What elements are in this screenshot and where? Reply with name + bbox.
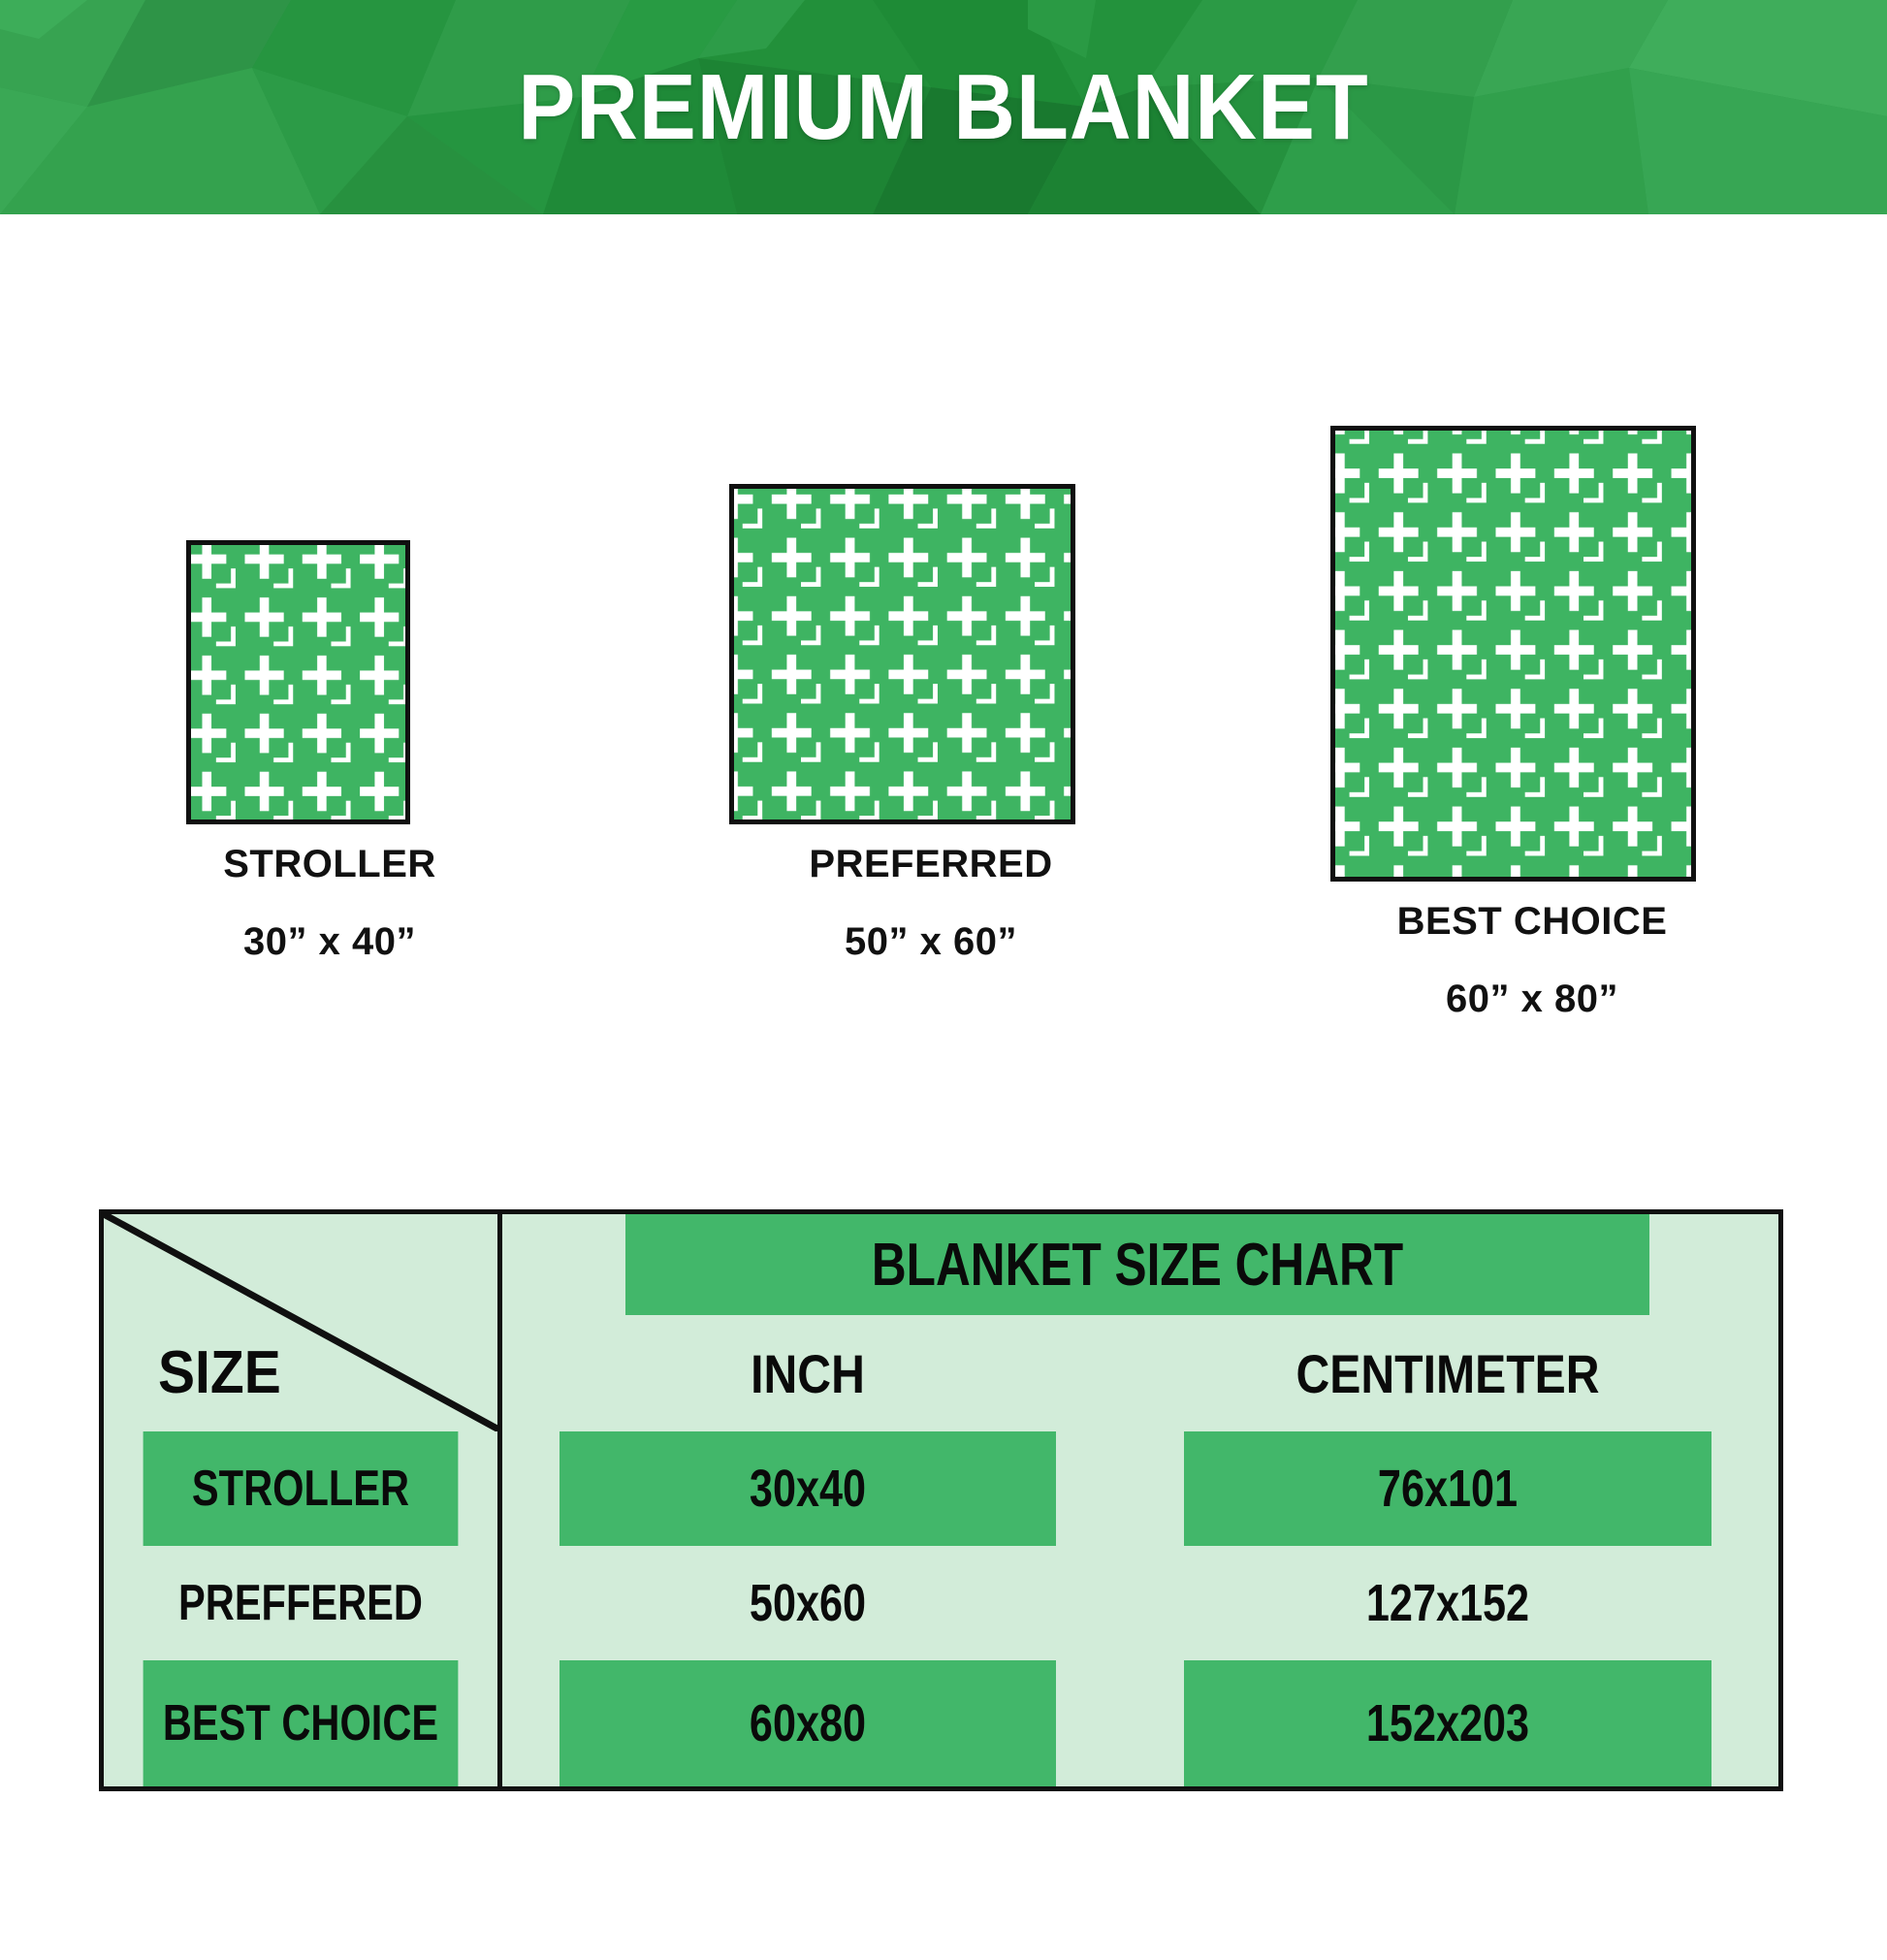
swatch-dims-preferred: 50” x 60” xyxy=(708,922,1154,961)
swatch-name-stroller: STROLLER xyxy=(107,845,553,884)
swatch-caption-bestchoice: BEST CHOICE 60” x 80” xyxy=(1309,902,1755,1018)
blanket-size-chart-table: BLANKET SIZE CHART INCH CENTIMETER STROL… xyxy=(99,1209,1783,1791)
plus-cross-pattern-icon xyxy=(191,545,405,819)
swatch-dims-bestchoice: 60” x 80” xyxy=(1309,980,1755,1018)
table-title: BLANKET SIZE CHART xyxy=(625,1214,1649,1315)
table-row: BEST CHOICE 60x80 152x203 xyxy=(104,1660,1778,1786)
row-inch-preffered: 50x60 xyxy=(560,1546,1056,1660)
blanket-swatch-stroller xyxy=(186,540,410,824)
row-cm-bestchoice: 152x203 xyxy=(1184,1660,1711,1786)
plus-cross-pattern-icon xyxy=(734,489,1071,819)
column-header-centimeter: CENTIMETER xyxy=(1165,1315,1732,1431)
swatch-caption-preferred: PREFERRED 50” x 60” xyxy=(708,845,1154,961)
swatch-dims-stroller: 30” x 40” xyxy=(107,922,553,961)
blanket-swatch-preferred xyxy=(729,484,1075,824)
table-row: STROLLER 30x40 76x101 xyxy=(104,1431,1778,1546)
row-inch-stroller: 30x40 xyxy=(560,1431,1056,1546)
table-title-row: BLANKET SIZE CHART xyxy=(104,1214,1778,1315)
table-column-divider xyxy=(497,1214,502,1786)
swatch-name-bestchoice: BEST CHOICE xyxy=(1309,902,1755,941)
table-header-row: INCH CENTIMETER xyxy=(104,1315,1778,1431)
row-label-bestchoice: BEST CHOICE xyxy=(144,1660,459,1786)
plus-cross-pattern-icon xyxy=(1335,431,1691,877)
row-inch-bestchoice: 60x80 xyxy=(560,1660,1056,1786)
blanket-swatch-bestchoice xyxy=(1330,426,1696,882)
page-title: PREMIUM BLANKET xyxy=(76,0,1811,214)
row-cm-preffered: 127x152 xyxy=(1184,1546,1711,1660)
row-cm-stroller: 76x101 xyxy=(1184,1431,1711,1546)
column-header-inch: INCH xyxy=(541,1315,1074,1431)
swatch-section: STROLLER 30” x 40” PREFERRED xyxy=(0,214,1887,1087)
swatch-caption-stroller: STROLLER 30” x 40” xyxy=(107,845,553,961)
swatch-name-preferred: PREFERRED xyxy=(708,845,1154,884)
corner-size-label: SIZE xyxy=(158,1338,281,1407)
row-label-preffered: PREFFERED xyxy=(144,1546,459,1660)
corner-cell-top xyxy=(104,1214,497,1315)
row-label-stroller: STROLLER xyxy=(144,1431,459,1546)
header-banner: PREMIUM BLANKET xyxy=(0,0,1887,214)
table-row: PREFFERED 50x60 127x152 xyxy=(104,1546,1778,1660)
